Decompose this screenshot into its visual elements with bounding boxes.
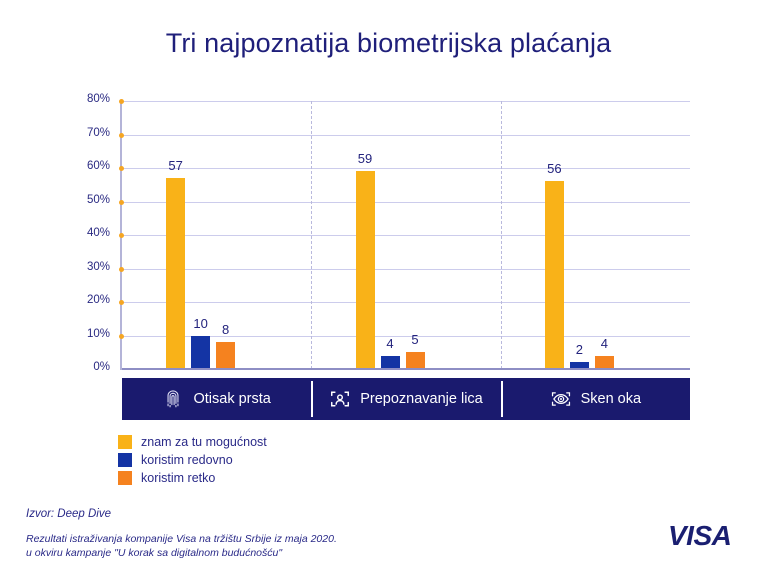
footer: Izvor: Deep Dive Rezultati istraživanja …: [26, 508, 337, 560]
category-cell-3[interactable]: Sken oka: [501, 378, 690, 420]
study-note-line-1: Rezultati istraživanja kompanije Visa na…: [26, 532, 337, 546]
study-note-line-2: u okviru kampanje "U korak sa digitalnom…: [26, 546, 337, 560]
y-axis-tick-label: 10%: [66, 328, 110, 340]
legend-label: znam za tu mogućnost: [141, 435, 267, 449]
bar-value-label: 56: [536, 161, 573, 176]
y-axis-labels: 0%10%20%30%40%50%60%70%80%: [66, 0, 110, 566]
bars-layer: 5710859455624: [122, 101, 690, 369]
y-axis-tick-label: 80%: [66, 93, 110, 105]
legend-label: koristim retko: [141, 471, 215, 485]
study-note: Rezultati istraživanja kompanije Visa na…: [26, 532, 337, 560]
y-axis-tick-dot: [119, 267, 124, 272]
y-axis-tick-label: 0%: [66, 361, 110, 373]
y-axis-tick-label: 40%: [66, 227, 110, 239]
bar-value-label: 59: [347, 151, 384, 166]
bar-value-label: 5: [397, 332, 434, 347]
fingerprint-icon: [162, 388, 184, 410]
bar: [545, 181, 564, 369]
category-label: Prepoznavanje lica: [360, 391, 483, 407]
y-axis-tick-dot: [119, 99, 124, 104]
bar: [166, 178, 185, 369]
source-line: Izvor: Deep Dive: [26, 508, 337, 520]
y-axis-tick-label: 30%: [66, 261, 110, 273]
y-axis-tick-label: 70%: [66, 127, 110, 139]
category-cell-2[interactable]: Prepoznavanje lica: [311, 378, 500, 420]
page-title: Tri najpoznatija biometrijska plaćanja: [0, 28, 777, 59]
category-label: Otisak prsta: [193, 391, 270, 407]
bar: [381, 356, 400, 369]
y-axis-tick-dot: [119, 133, 124, 138]
category-label: Sken oka: [581, 391, 641, 407]
bar: [595, 356, 614, 369]
bar: [191, 336, 210, 370]
bar: [216, 342, 235, 369]
face-scan-icon: [329, 388, 351, 410]
y-axis-tick-dot: [119, 200, 124, 205]
category-axis-band: Otisak prstaPrepoznavanje licaSken oka: [122, 378, 690, 420]
bar: [406, 352, 425, 369]
legend-color-swatch: [118, 471, 132, 485]
category-cell-1[interactable]: Otisak prsta: [122, 378, 311, 420]
legend-item-1[interactable]: znam za tu mogućnost: [118, 434, 267, 449]
y-axis-tick-label: 60%: [66, 160, 110, 172]
bar-value-label: 57: [157, 158, 194, 173]
legend-color-swatch: [118, 453, 132, 467]
svg-text:VISA: VISA: [668, 520, 731, 551]
y-axis-tick-dot: [119, 334, 124, 339]
visa-logo: VISA: [666, 519, 758, 551]
x-axis-baseline: [122, 368, 690, 370]
legend-label: koristim redovno: [141, 453, 233, 467]
legend-item-3[interactable]: koristim retko: [118, 470, 267, 485]
bar-value-label: 8: [207, 322, 244, 337]
y-axis-tick-dot: [119, 166, 124, 171]
y-axis-tick-dot: [119, 300, 124, 305]
chart-legend: znam za tu mogućnostkoristim redovnokori…: [118, 434, 267, 485]
y-axis-tick-dot: [119, 233, 124, 238]
y-axis-tick-label: 20%: [66, 294, 110, 306]
bar-value-label: 4: [586, 336, 623, 351]
y-axis-tick-label: 50%: [66, 194, 110, 206]
legend-color-swatch: [118, 435, 132, 449]
eye-scan-icon: [550, 388, 572, 410]
legend-item-2[interactable]: koristim redovno: [118, 452, 267, 467]
